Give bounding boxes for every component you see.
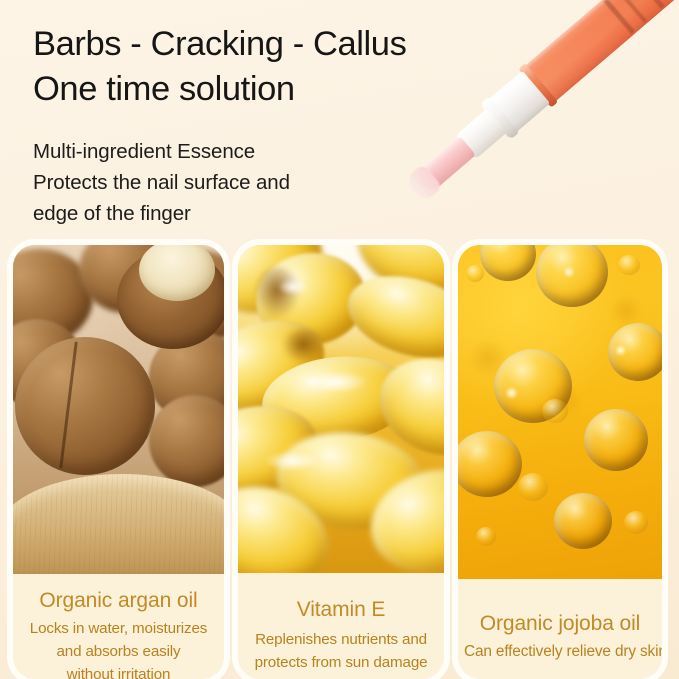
ingredient-card-organic-jojoba-oil: Organic jojoba oil Can effectively relie… (458, 245, 662, 679)
card-title-argan: Organic argan oil (19, 589, 218, 612)
oil-bubble-small-4 (518, 473, 548, 501)
oil-bubble-small-5 (624, 511, 648, 534)
pen-label-print (588, 0, 679, 47)
oil-mottle-3 (608, 297, 644, 325)
capsules-photo-backdrop (238, 245, 444, 573)
oil-bubble-1 (480, 245, 536, 281)
pen-nose-cone (454, 108, 508, 160)
argan-desc-line-1: Locks in water, moisturizes (19, 618, 218, 641)
page-subtitle: Multi-ingredient Essence Protects the na… (33, 136, 433, 229)
oil-bubble-specular-3 (504, 387, 519, 399)
oil-photo-backdrop (458, 245, 662, 579)
page-title: Barbs - Cracking - Callus One time solut… (33, 22, 533, 112)
card-caption-argan: Organic argan oil Locks in water, moistu… (13, 574, 224, 679)
nut-foreground-right (149, 395, 224, 487)
ingredient-card-organic-argan-oil: Organic argan oil Locks in water, moistu… (13, 245, 224, 679)
golden-jojoba-oil-bubbles-photo (458, 245, 662, 579)
subhead-line-3: edge of the finger (33, 198, 433, 229)
oil-bubble-5 (584, 409, 648, 471)
oil-bubble-small-1 (466, 265, 484, 282)
wooden-bowl-rim (13, 474, 224, 574)
card-description-jojoba: Can effectively relieve dry skin (464, 640, 656, 663)
capsule-highlight-3 (264, 451, 320, 471)
product-infographic-poster: Barbs - Cracking - Callus One time solut… (0, 0, 679, 679)
vitamin-e-softgel-capsules-photo (238, 245, 444, 573)
oil-bubble-small-6 (476, 527, 496, 546)
card-caption-jojoba: Organic jojoba oil Can effectively relie… (458, 579, 662, 679)
nut-foreground-main (15, 337, 155, 475)
capsule-highlight-1 (278, 279, 308, 295)
pen-barrel (519, 0, 679, 106)
card-caption-vitamin-e: Vitamin E Replenishes nutrients and prot… (238, 573, 444, 679)
oil-bubble-small-3 (542, 399, 568, 423)
capsule-shadow-2 (282, 329, 324, 363)
subhead-line-2: Protects the nail surface and (33, 167, 433, 198)
argan-desc-line-2: and absorbs easily (19, 641, 218, 664)
macadamia-nuts-in-wooden-bowl-photo (13, 245, 224, 574)
nuts-photo-backdrop (13, 245, 224, 574)
card-description-argan: Locks in water, moisturizes and absorbs … (19, 618, 218, 679)
card-description-vitamin-e: Replenishes nutrients and protects from … (244, 629, 438, 675)
vitamin-e-desc-line-2: protects from sun damage (244, 652, 438, 675)
oil-bubble-specular-2 (614, 345, 627, 356)
oil-bubble-small-2 (618, 255, 640, 275)
capsule-highlight-2 (304, 371, 368, 393)
subhead-line-1: Multi-ingredient Essence (33, 136, 433, 167)
header-section: Barbs - Cracking - Callus One time solut… (0, 0, 679, 238)
card-title-vitamin-e: Vitamin E (244, 598, 438, 621)
argan-desc-line-3: without irritation (19, 664, 218, 679)
oil-bubble-specular-1 (562, 267, 576, 277)
jojoba-desc-line-1: Can effectively relieve dry skin (464, 640, 656, 663)
ingredient-card-vitamin-e: Vitamin E Replenishes nutrients and prot… (238, 245, 444, 679)
oil-bubble-6 (458, 431, 522, 497)
headline-line-2: One time solution (33, 67, 533, 112)
vitamin-e-desc-line-1: Replenishes nutrients and (244, 629, 438, 652)
oil-bubble-7 (554, 493, 612, 549)
card-title-jojoba: Organic jojoba oil (464, 612, 656, 635)
headline-line-1: Barbs - Cracking - Callus (33, 22, 533, 67)
ingredient-cards-row: Organic argan oil Locks in water, moistu… (0, 245, 679, 679)
